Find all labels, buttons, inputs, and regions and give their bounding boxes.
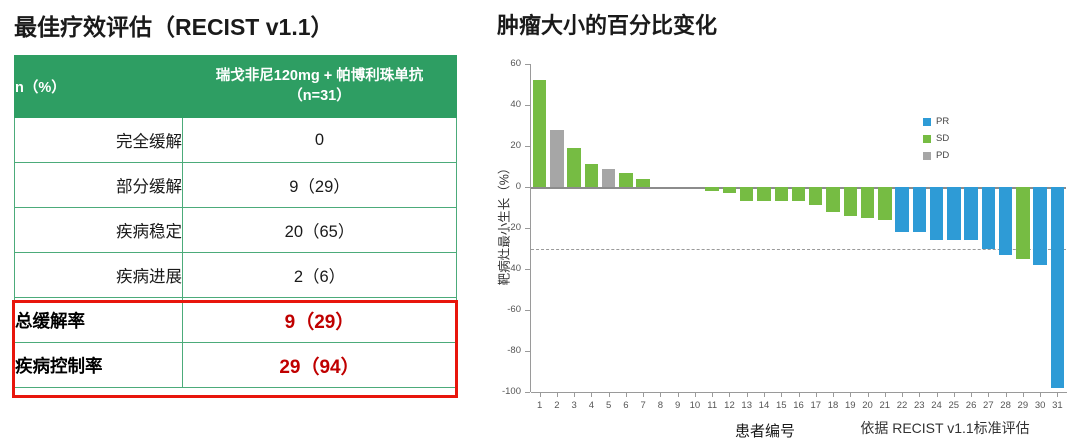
bar-patient-22 [895,187,908,232]
header-arm-line2: （n=31） [183,87,456,107]
x-tick [574,392,575,397]
bar-patient-19 [844,187,857,216]
y-tick [525,146,530,147]
row-value: 0 [183,118,457,163]
x-tick [868,392,869,397]
x-tick [919,392,920,397]
y-tick-label: 60 [475,58,521,69]
x-tick [660,392,661,397]
x-tick [954,392,955,397]
plot-wrapper: 靶病灶最小生长（%） 6040200-20-40-60-80-100 12345… [475,58,1080,398]
row-label: 疾病进展 [15,253,183,298]
x-tick [609,392,610,397]
page-title: 最佳疗效评估（RECIST v1.1） [14,8,334,42]
table-header-row: n（%）瑞戈非尼120mg + 帕博利珠单抗（n=31） [15,56,457,118]
bar-patient-14 [757,187,770,201]
bar-patient-27 [982,187,995,249]
x-tick [643,392,644,397]
table-row: 疾病控制率29（94） [15,343,457,388]
x-tick [850,392,851,397]
x-tick [781,392,782,397]
row-label: 部分缓解 [15,163,183,208]
bar-patient-25 [947,187,960,240]
x-tick [591,392,592,397]
row-value: 2（6） [183,253,457,298]
legend-item-sd: SD [923,133,949,144]
chart-title: 肿瘤大小的百分比变化 [497,8,717,40]
x-tick [833,392,834,397]
header-cell-treatment-arm: 瑞戈非尼120mg + 帕博利珠单抗（n=31） [183,56,457,118]
bar-patient-30 [1033,187,1046,265]
y-tick-label: -80 [475,345,521,356]
y-tick [525,105,530,106]
x-axis-label: 患者编号 [735,420,795,441]
bar-patient-28 [999,187,1012,255]
bar-patient-12 [723,187,736,193]
table-row: 完全缓解0 [15,118,457,163]
row-label: 疾病稳定 [15,208,183,253]
row-value: 29（94） [183,343,457,388]
bar-patient-1 [533,80,546,187]
bar-patient-5 [602,169,615,187]
y-tick-label: 20 [475,140,521,151]
x-tick [747,392,748,397]
bar-patient-31 [1051,187,1064,388]
y-tick [525,392,530,393]
bar-patient-4 [585,164,598,187]
x-tick [988,392,989,397]
table-row: 部分缓解9（29） [15,163,457,208]
reference-line-minus30 [531,249,1066,250]
x-tick [799,392,800,397]
y-tick-label: 0 [475,181,521,192]
row-label: 疾病控制率 [15,343,183,388]
bar-patient-16 [792,187,805,201]
x-tick [1057,392,1058,397]
bar-patient-13 [740,187,753,201]
x-tick [626,392,627,397]
y-tick [525,310,530,311]
bar-patient-21 [878,187,891,220]
bar-patient-7 [636,179,649,187]
y-tick-label: -60 [475,304,521,315]
y-tick-label: 40 [475,99,521,110]
x-tick [695,392,696,397]
legend-label: PR [936,116,949,127]
x-tick [902,392,903,397]
y-tick [525,187,530,188]
header-cell-n-percent: n（%） [15,56,183,118]
legend-label: SD [936,133,949,144]
chart-footnote: 依据 RECIST v1.1标准评估 [860,418,1029,438]
x-tick [816,392,817,397]
x-tick [712,392,713,397]
y-tick [525,269,530,270]
x-tick [1006,392,1007,397]
bar-patient-6 [619,173,632,187]
x-tick [971,392,972,397]
bar-patient-17 [809,187,822,205]
y-tick-label: -100 [475,386,521,397]
table-row: 疾病进展2（6） [15,253,457,298]
legend-swatch-pr [923,118,931,126]
bar-patient-3 [567,148,580,187]
header-arm-line1: 瑞戈非尼120mg + 帕博利珠单抗 [183,67,456,87]
bar-patient-15 [775,187,788,201]
best-response-table-panel: 最佳疗效评估（RECIST v1.1） n（%）瑞戈非尼120mg + 帕博利珠… [0,0,475,446]
x-tick [764,392,765,397]
table-row: 总缓解率9（29） [15,298,457,343]
table-row: 疾病稳定20（65） [15,208,457,253]
legend-swatch-pd [923,152,931,160]
waterfall-chart-panel: 肿瘤大小的百分比变化 靶病灶最小生长（%） 6040200-20-40-60-8… [475,0,1080,446]
bar-patient-20 [861,187,874,218]
y-tick-label: -40 [475,263,521,274]
legend-item-pr: PR [923,116,949,127]
y-tick [525,64,530,65]
y-tick [525,351,530,352]
best-response-table: n（%）瑞戈非尼120mg + 帕博利珠单抗（n=31）完全缓解0部分缓解9（2… [14,55,457,388]
x-tick [729,392,730,397]
x-tick [557,392,558,397]
bar-patient-11 [705,187,718,191]
chart-legend: PRSDPD [923,116,949,167]
y-tick [525,228,530,229]
row-value: 9（29） [183,163,457,208]
bar-patient-29 [1016,187,1029,259]
row-value: 20（65） [183,208,457,253]
plot-area [531,64,1066,392]
bar-patient-26 [964,187,977,240]
x-tick-label: 31 [1047,400,1067,411]
x-tick [678,392,679,397]
row-label: 总缓解率 [15,298,183,343]
legend-label: PD [936,150,949,161]
legend-item-pd: PD [923,150,949,161]
bar-patient-23 [913,187,926,232]
row-label: 完全缓解 [15,118,183,163]
y-tick-label: -20 [475,222,521,233]
bar-patient-2 [550,130,563,187]
bar-patient-18 [826,187,839,212]
x-tick [540,392,541,397]
x-tick [1023,392,1024,397]
x-tick [1040,392,1041,397]
bar-patient-24 [930,187,943,240]
x-tick [885,392,886,397]
legend-swatch-sd [923,135,931,143]
x-tick [937,392,938,397]
row-value: 9（29） [183,298,457,343]
